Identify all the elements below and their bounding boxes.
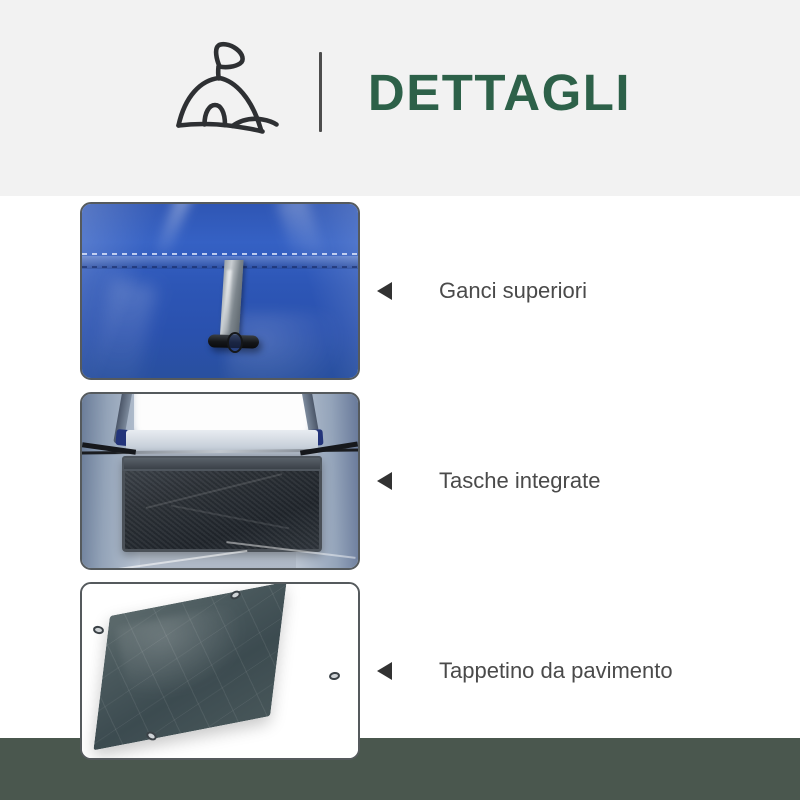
stitch-line	[82, 253, 358, 255]
grommet-icon	[92, 625, 104, 635]
page-title: DETTAGLI	[368, 67, 631, 118]
hook-ring	[227, 332, 243, 353]
details-list: Ganci superiori	[0, 196, 800, 800]
detail-image-card	[80, 392, 360, 570]
detail-row-tappetino-da-pavimento: Tappetino da pavimento	[0, 576, 800, 766]
detail-marker: Tappetino da pavimento	[377, 658, 673, 684]
blue-fabric-hook-photo	[82, 204, 358, 378]
detail-label: Tappetino da pavimento	[439, 658, 673, 684]
tent-with-flag-icon	[169, 40, 287, 144]
detail-marker: Tasche integrate	[377, 468, 600, 494]
interior-mesh-pocket-photo	[82, 394, 358, 568]
detail-row-ganci-superiori: Ganci superiori	[0, 196, 800, 386]
detail-label: Tasche integrate	[439, 468, 600, 494]
floor-mat-photo	[82, 584, 358, 758]
arrow-left-icon	[377, 472, 392, 490]
grommet-icon	[328, 671, 340, 680]
detail-marker: Ganci superiori	[377, 278, 587, 304]
header-band: DETTAGLI	[0, 0, 800, 196]
silver-coated-panel	[126, 430, 318, 458]
arrow-left-icon	[377, 662, 392, 680]
detail-label: Ganci superiori	[439, 278, 587, 304]
detail-image-card	[80, 202, 360, 380]
detail-row-tasche-integrate: Tasche integrate	[0, 386, 800, 576]
detail-image-card	[80, 582, 360, 760]
header-inner: DETTAGLI	[169, 40, 631, 144]
header-divider	[319, 52, 322, 132]
mesh-pocket-hem	[122, 456, 322, 471]
arrow-left-icon	[377, 282, 392, 300]
fabric-sheen	[87, 277, 157, 380]
stitch-line	[82, 266, 358, 268]
